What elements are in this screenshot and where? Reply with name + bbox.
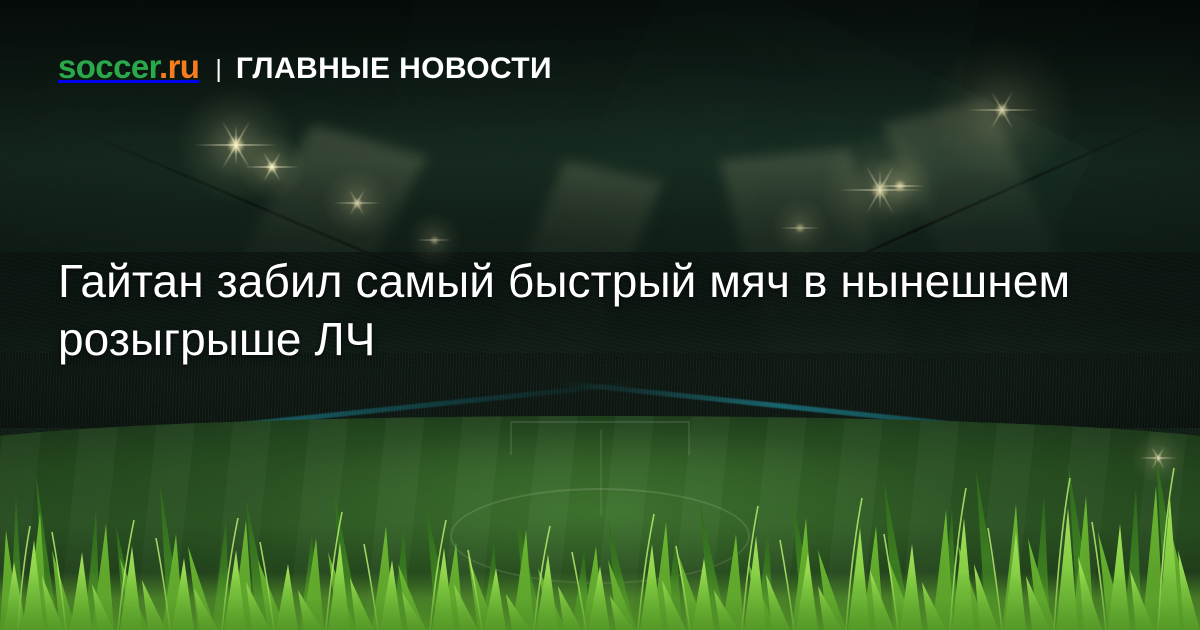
social-share-card: soccer.ru | ГЛАВНЫЕ НОВОСТИ Гайтан забил…	[0, 0, 1200, 630]
logo-text-suffix: .ru	[159, 48, 199, 85]
article-headline: Гайтан забил самый быстрый мяч в нынешне…	[58, 252, 1118, 368]
site-header: soccer.ru | ГЛАВНЫЕ НОВОСТИ	[58, 50, 552, 84]
header-separator: |	[215, 57, 222, 82]
section-kicker: ГЛАВНЫЕ НОВОСТИ	[236, 54, 552, 84]
logo-text-primary: soccer	[58, 48, 159, 85]
foreground-grass	[0, 400, 1200, 630]
grass-base-fill	[0, 572, 1200, 630]
site-logo[interactable]: soccer.ru	[58, 50, 199, 83]
